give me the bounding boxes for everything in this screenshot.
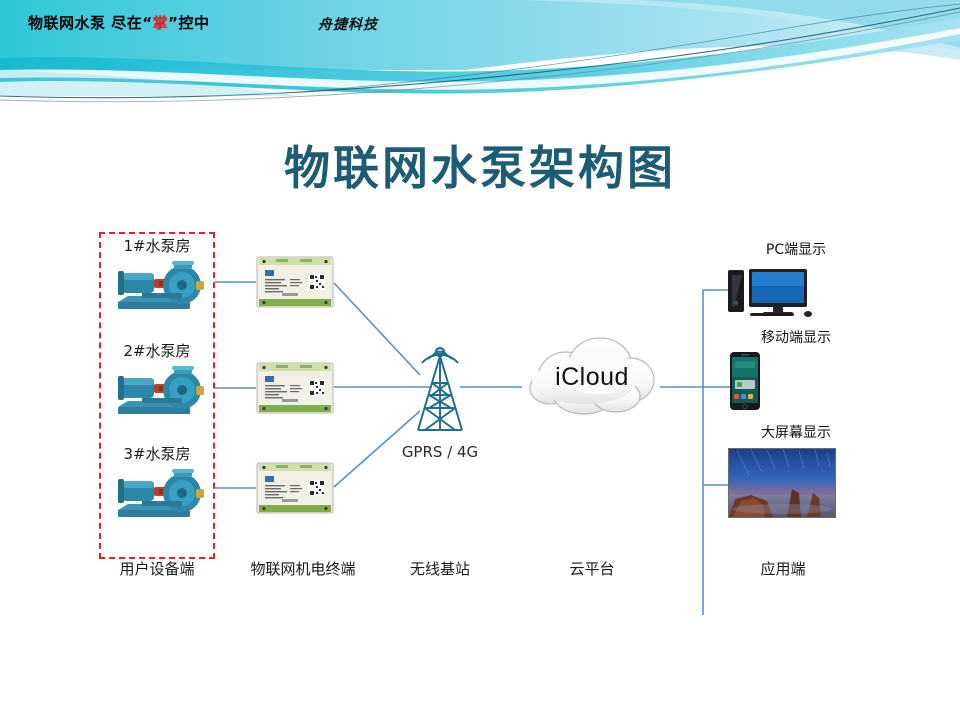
stage-label-cloud-platform: 云平台 (515, 558, 669, 579)
iot-terminal-icon-1 (256, 256, 334, 308)
stage-label-iot-terminal: 物联网机电终端 (215, 558, 391, 579)
banner-slogan-pre: 物联网水泵 尽在 (28, 14, 142, 32)
iot-terminal-icon-3 (256, 462, 334, 514)
stage-label-wireless-station: 无线基站 (370, 558, 510, 579)
company-brand-name: 舟捷科技 (318, 14, 378, 34)
cell-tower-icon (385, 325, 495, 440)
water-pump-icon-1 (112, 259, 206, 315)
architecture-diagram: 1#水泵房 2#水泵房 (0, 215, 960, 615)
tower-network-label: GPRS / 4G (370, 443, 510, 461)
banner-quote-open: “ (142, 14, 152, 32)
banner-slogan: 物联网水泵 尽在“掌”控中 (28, 12, 209, 33)
pump-room-label-1: 1#水泵房 (97, 235, 217, 256)
desktop-computer-icon (728, 267, 816, 319)
mobile-display-label: 移动端显示 (716, 327, 876, 347)
banner-quote-close: ” (168, 14, 178, 32)
water-pump-icon-3 (112, 467, 206, 523)
slide-root: 物联网水泵 尽在“掌”控中 舟捷科技 物联网水泵架构图 (0, 0, 960, 720)
stage-label-application: 应用端 (706, 558, 860, 579)
pump-room-label-2: 2#水泵房 (97, 340, 217, 361)
banner-slogan-post: 控中 (178, 14, 209, 32)
large-screen-display-label: 大屏幕显示 (716, 422, 876, 442)
water-pump-icon-2 (112, 364, 206, 420)
stage-label-row: 用户设备端 物联网机电终端 无线基站 云平台 应用端 (0, 558, 960, 584)
stage-label-user-equipment: 用户设备端 (96, 558, 218, 579)
iot-terminal-icon-2 (256, 362, 334, 414)
page-title: 物联网水泵架构图 (0, 132, 960, 198)
banner-slogan-highlight: 掌 (153, 14, 169, 32)
pump-room-label-3: 3#水泵房 (97, 443, 217, 464)
large-screen-icon (728, 448, 836, 518)
pc-display-label: PC端显示 (716, 239, 876, 259)
cloud-platform-label: iCloud (512, 363, 672, 392)
smartphone-icon (730, 352, 760, 410)
slide-banner: 物联网水泵 尽在“掌”控中 舟捷科技 (0, 0, 960, 112)
